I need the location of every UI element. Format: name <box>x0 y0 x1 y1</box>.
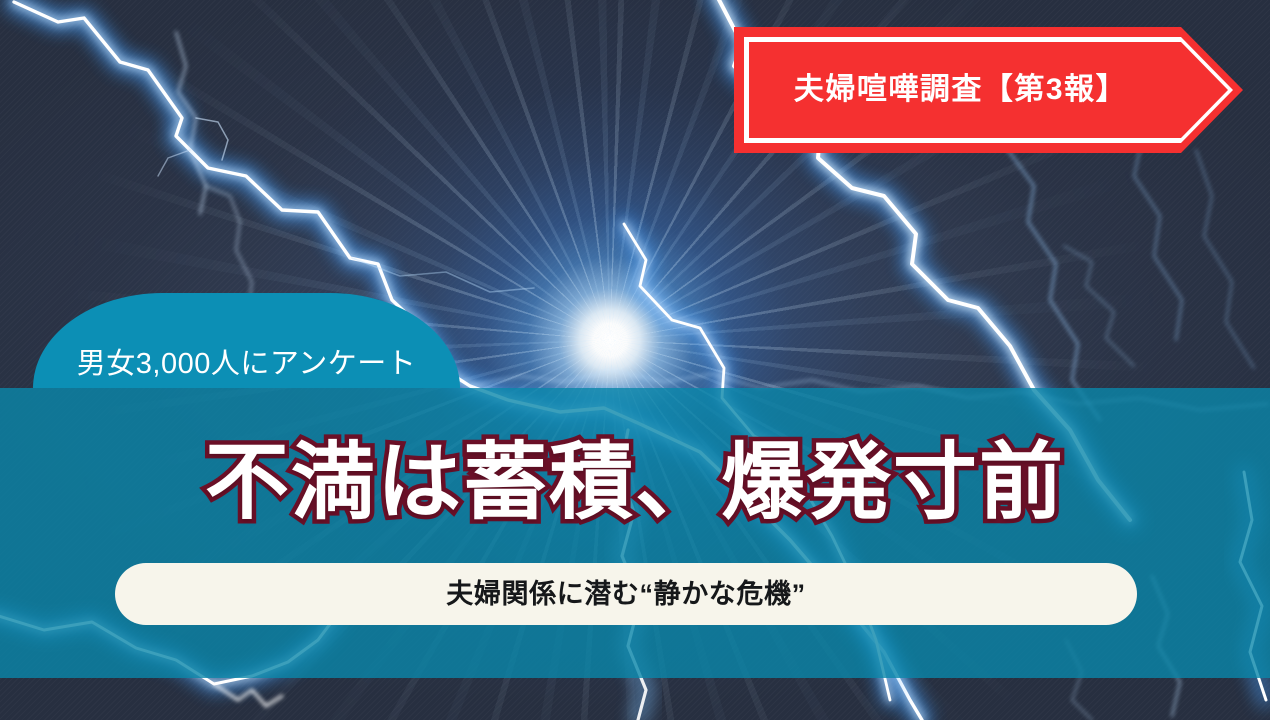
survey-badge: 男女3,000人にアンケート <box>33 293 460 388</box>
slide-canvas: 夫婦喧嘩調査【第3報】 男女3,000人にアンケート 不満は蓄積、爆発寸前 夫婦… <box>0 0 1270 720</box>
report-banner: 夫婦喧嘩調査【第3報】 <box>734 27 1243 153</box>
subtitle-pill: 夫婦関係に潜む“静かな危機” <box>115 563 1137 625</box>
title-band <box>0 388 1270 678</box>
page-title: 不満は蓄積、爆発寸前 <box>0 438 1270 526</box>
banner-label: 夫婦喧嘩調査【第3報】 <box>734 75 1243 105</box>
page-subtitle: 夫婦関係に潜む“静かな危機” <box>446 581 805 608</box>
survey-badge-label: 男女3,000人にアンケート <box>77 350 416 379</box>
